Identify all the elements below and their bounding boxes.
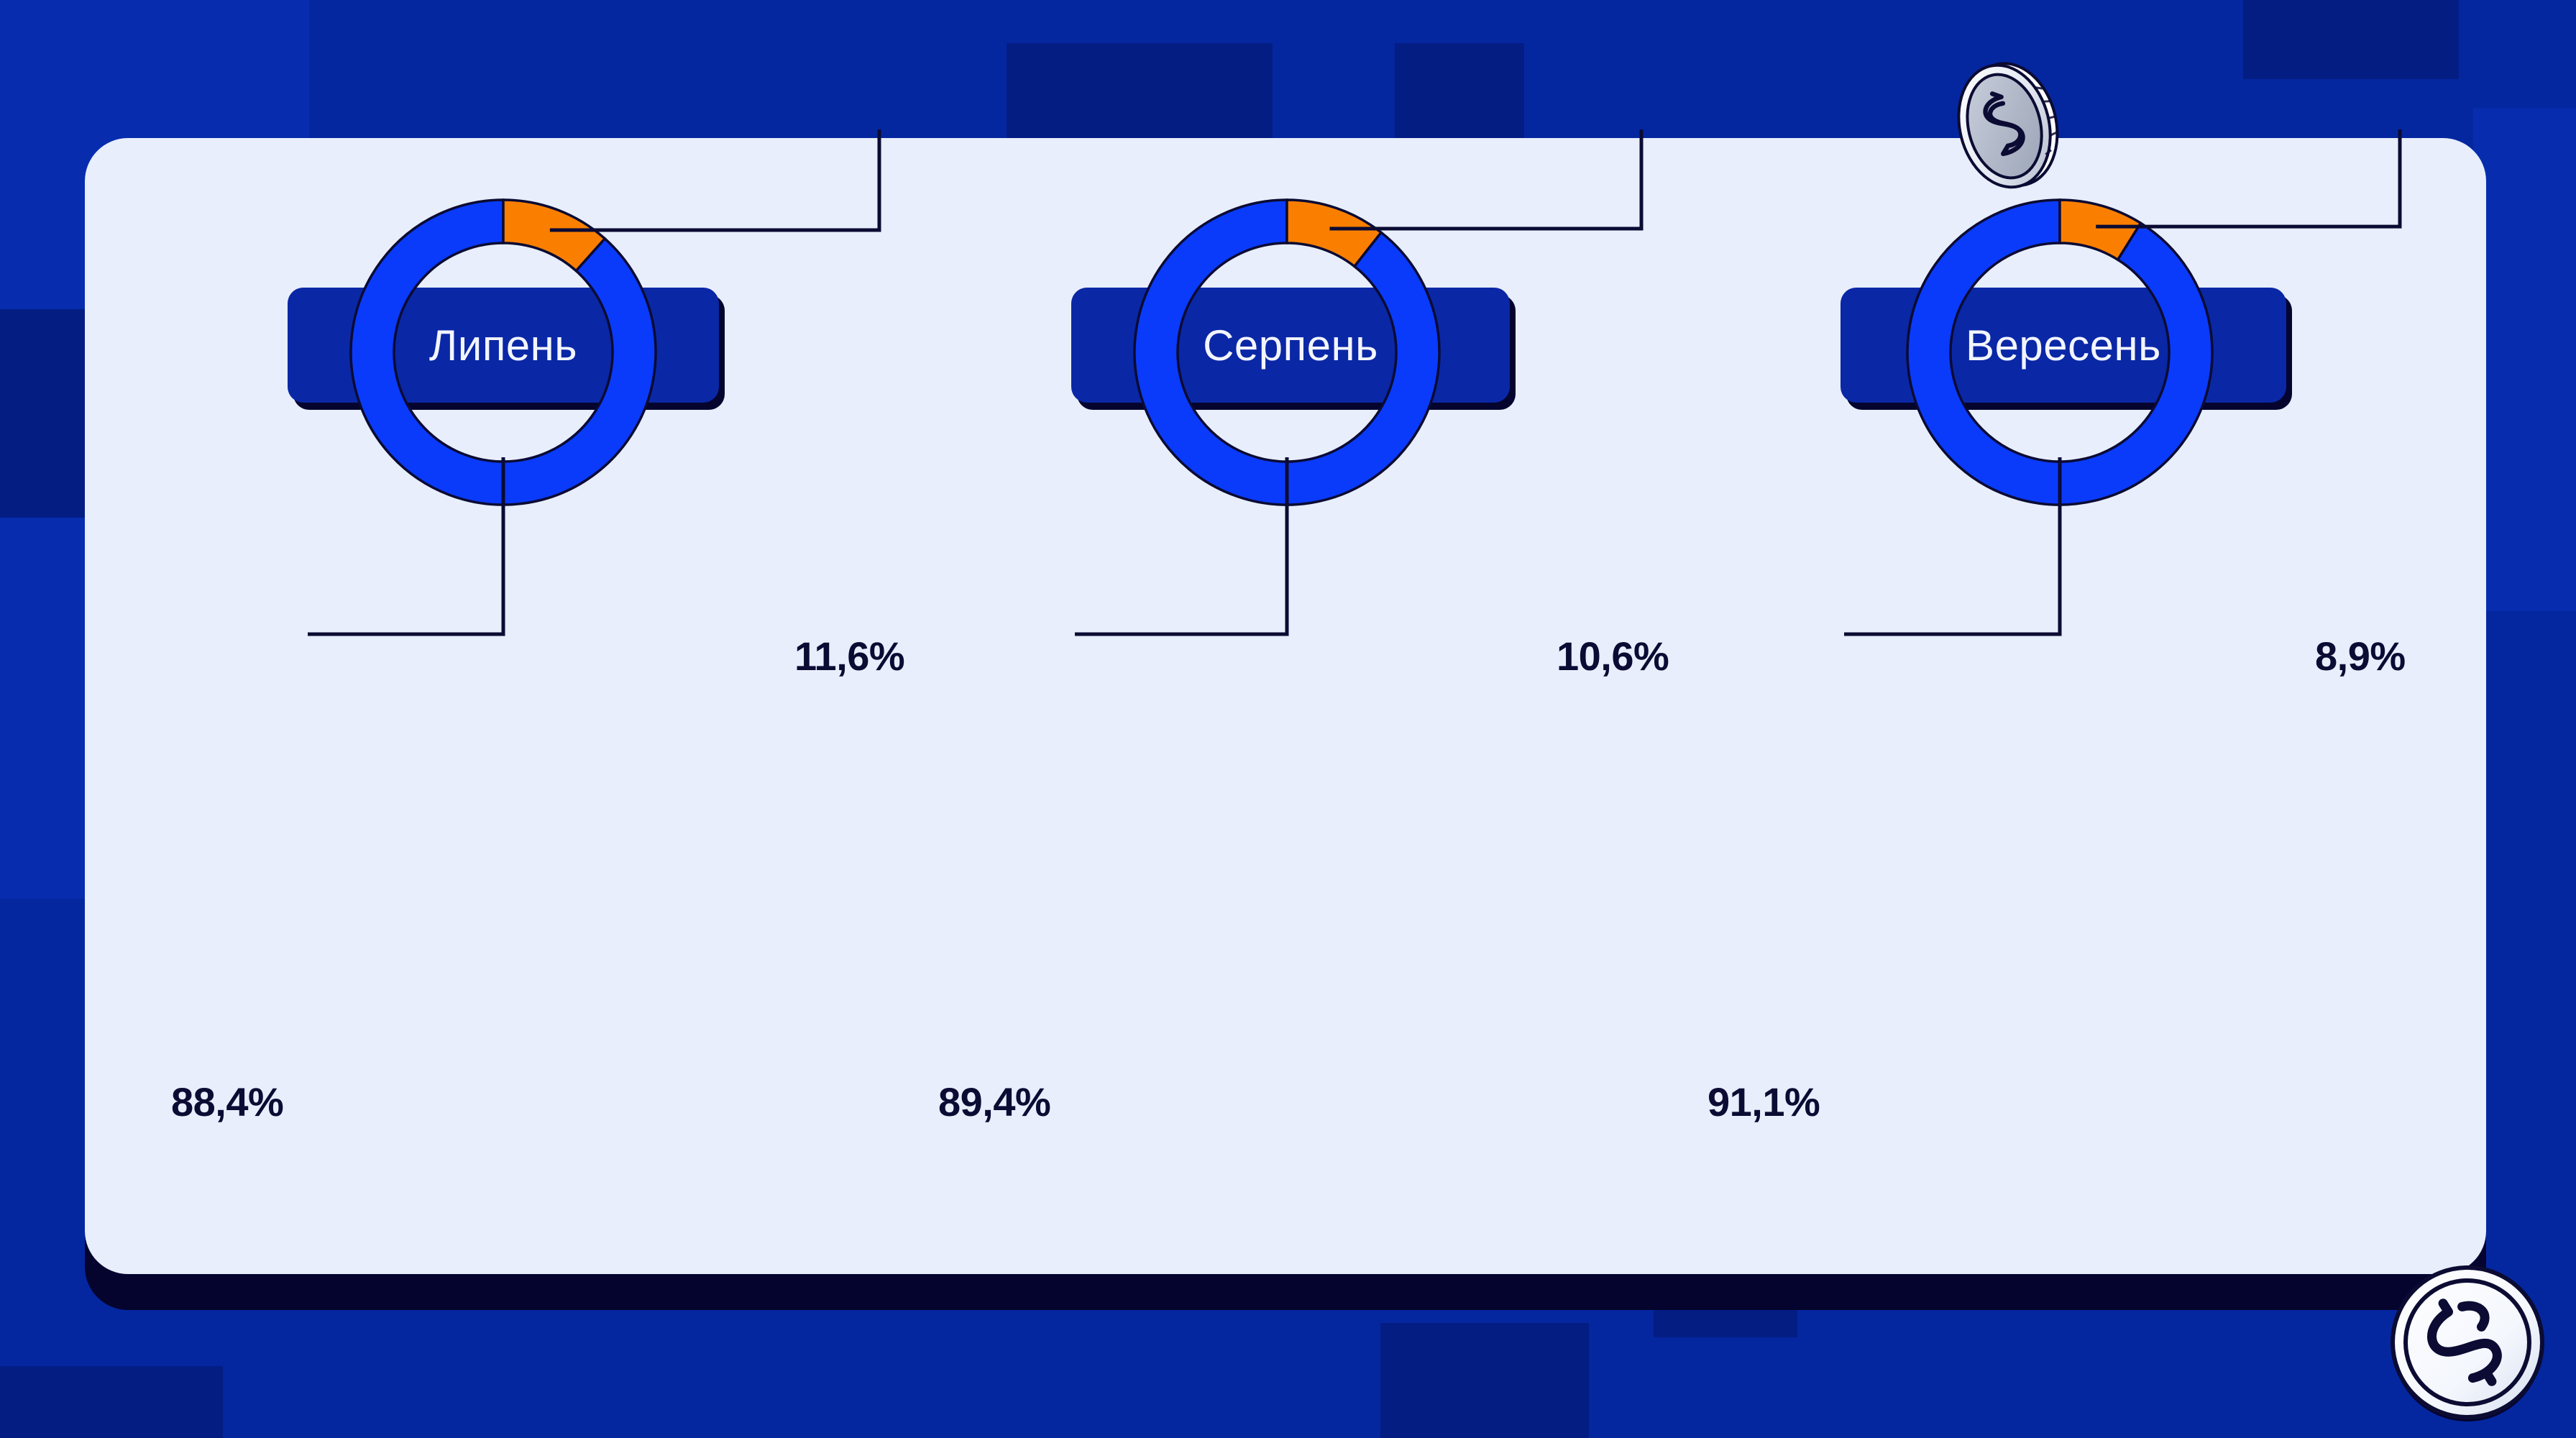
coin-dollar-icon [1941, 54, 2071, 198]
percent-label-blue-2: 89,4% [938, 1078, 1050, 1125]
percent-label-orange-1: 11,6% [794, 633, 904, 679]
coin-dollar-logo-icon [2387, 1262, 2552, 1427]
bg-rect-left-band [0, 510, 86, 899]
bg-rect-bottom-left [0, 1366, 223, 1438]
percent-label-orange-3: 8,9% [2315, 633, 2406, 679]
percent-label-blue-3: 91,1% [1708, 1078, 1820, 1125]
leader-line-orange [2096, 129, 2400, 226]
percent-label-orange-2: 10,6% [1557, 633, 1669, 679]
percent-label-blue-1: 88,4% [171, 1078, 283, 1125]
bg-rect-bottom-mid [1380, 1323, 1589, 1438]
donut-chart-3 [0, 0, 2576, 1]
